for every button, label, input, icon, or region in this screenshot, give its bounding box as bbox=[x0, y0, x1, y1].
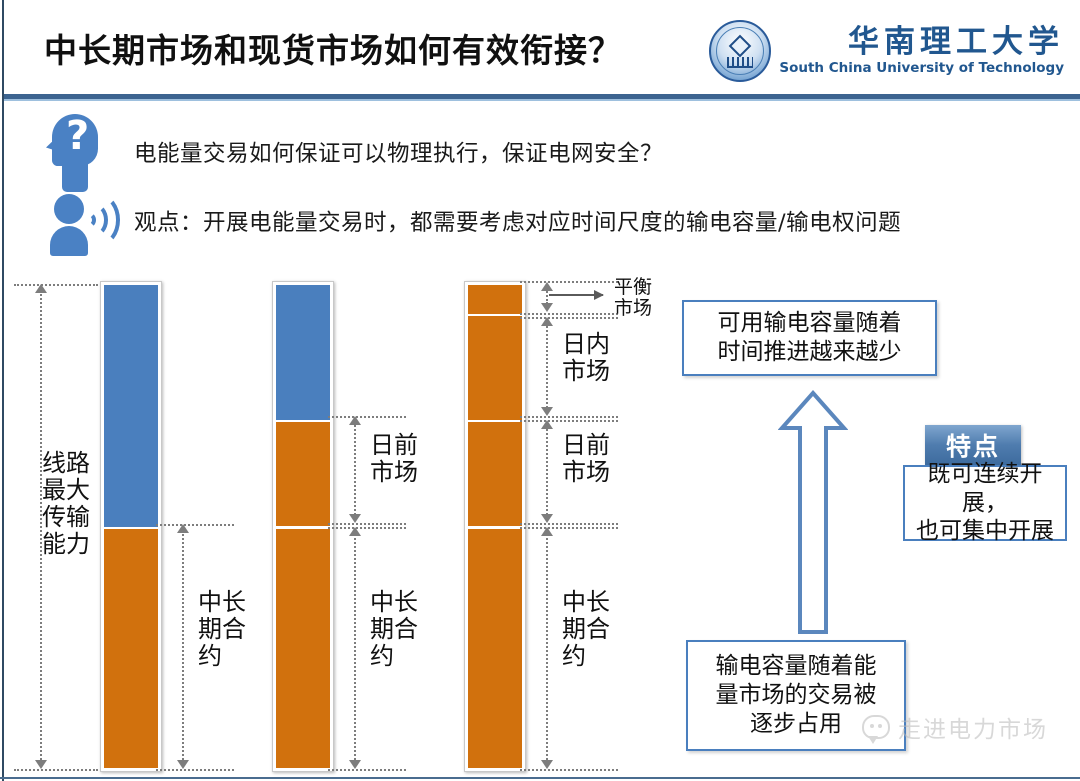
bar-1-ext-top bbox=[156, 524, 234, 526]
bar-3-ext-da-bottom bbox=[520, 523, 618, 525]
bar-1-arrow-top bbox=[177, 524, 189, 533]
bar-3-ext-ml-bottom bbox=[520, 769, 618, 771]
bar-3-ext-intra-bottom bbox=[520, 416, 618, 418]
bar-2-ext-ml-top bbox=[328, 527, 406, 529]
head-question-icon: ? bbox=[46, 112, 102, 192]
bar-1-segment-available bbox=[104, 285, 158, 527]
page-title: 中长期市场和现货市场如何有效衔接？ bbox=[44, 24, 622, 72]
bar-2-arrow-da-bottom bbox=[349, 514, 361, 523]
capacity-arrow-top bbox=[35, 284, 47, 293]
bar-2-dim-line-day-ahead bbox=[354, 422, 356, 518]
bar-3-ext-ml-top bbox=[520, 527, 618, 529]
viewpoint-row: 观点：开展电能量交易时，都需要考虑对应时间尺度的输电容量/输电权问题 bbox=[46, 186, 901, 256]
speaking-person-icon bbox=[46, 186, 118, 256]
bar-2-ext-da-bottom bbox=[328, 523, 406, 525]
logo-name-en: South China University of Technology bbox=[779, 60, 1064, 76]
bar-3-segment-balance bbox=[468, 285, 522, 314]
capacity-axis-label: 线路 最大 传输 能力 bbox=[34, 450, 98, 558]
bar-3 bbox=[464, 281, 526, 772]
university-logo: 华南理工大学 South China University of Technol… bbox=[709, 14, 1064, 88]
bar-3-arrow-bal-bottom bbox=[541, 303, 553, 312]
bar-1 bbox=[100, 281, 162, 772]
capacity-axis-line-3: 传输 bbox=[34, 504, 98, 531]
bar-2-segment-available bbox=[276, 285, 330, 420]
bar-1-label-mid-long: 中长期合约 bbox=[198, 589, 246, 670]
bar-3-arrow-intra-top bbox=[541, 317, 553, 326]
bar-3-ext-bal-top bbox=[520, 281, 618, 283]
bar-3-arrow-da-bottom bbox=[541, 514, 553, 523]
bar-2-ext-da-top bbox=[328, 416, 406, 418]
wechat-icon bbox=[862, 715, 890, 739]
bar-2-segment-day-ahead bbox=[276, 420, 330, 526]
bar-3-ext-bal-bottom bbox=[520, 313, 618, 315]
bar-3-dim-line-mid-long bbox=[546, 533, 548, 764]
capacity-axis-line-1: 线路 bbox=[34, 450, 98, 477]
bar-3-arrow-intra-bottom bbox=[541, 407, 553, 416]
bar-1-segment-mid-long bbox=[104, 527, 158, 769]
bar-2-arrow-ml-bottom bbox=[349, 760, 361, 769]
bar-2-arrow-da-top bbox=[349, 416, 361, 425]
callout-top[interactable]: 可用输电容量随着 时间推进越来越少 bbox=[682, 300, 937, 376]
bottom-edge-rule bbox=[0, 777, 1080, 779]
bar-3-arrow-da-top bbox=[541, 420, 553, 429]
bar-3-arrow-ml-bottom bbox=[541, 760, 553, 769]
bar-2-ext-ml-bottom bbox=[328, 769, 406, 771]
bar-3-segment-intraday bbox=[468, 314, 522, 420]
bar-3-dim-line-intraday bbox=[546, 323, 548, 411]
bar-2 bbox=[272, 281, 334, 772]
capacity-arrow-bottom bbox=[35, 760, 47, 769]
bar-3-label-balance: 平衡市场 bbox=[614, 277, 652, 319]
bar-2-label-mid-long: 中长期合约 bbox=[370, 589, 418, 670]
watermark: 走进电力市场 bbox=[862, 710, 1048, 744]
bar-2-segment-mid-long bbox=[276, 527, 330, 769]
bar-3-arrow-ml-top bbox=[541, 527, 553, 536]
bar-1-arrow-bottom bbox=[177, 760, 189, 769]
logo-name-cn: 华南理工大学 bbox=[848, 26, 1064, 59]
callout-feature[interactable]: 既可连续开展， 也可集中开展 bbox=[903, 465, 1067, 541]
capacity-ext-bottom bbox=[14, 769, 98, 771]
bar-3-segment-day-ahead bbox=[468, 420, 522, 526]
capacity-ext-top bbox=[14, 284, 98, 286]
bar-3-label-intraday: 日内市场 bbox=[562, 331, 610, 385]
capacity-axis-line-4: 能力 bbox=[34, 531, 98, 558]
bar-1-ext-bottom bbox=[156, 769, 234, 771]
bar-3-label-mid-long: 中长期合约 bbox=[562, 589, 610, 670]
bar-3-dim-line-day-ahead bbox=[546, 426, 548, 518]
question-text: 电能量交易如何保证可以物理执行，保证电网安全？ bbox=[134, 136, 663, 168]
bar-2-label-day-ahead: 日前市场 bbox=[370, 432, 418, 486]
bar-3-arrow-bal-top bbox=[541, 282, 553, 291]
bar-2-dim-line-mid-long bbox=[354, 533, 356, 764]
slide-canvas: 中长期市场和现货市场如何有效衔接？ 华南理工大学 South China Uni… bbox=[0, 0, 1080, 781]
callout-bottom-text: 输电容量随着能 量市场的交易被 逐步占用 bbox=[716, 652, 877, 738]
bar-2-arrow-ml-top bbox=[349, 527, 361, 536]
capacity-axis-line-2: 最大 bbox=[34, 477, 98, 504]
bar-3-ext-intra-top bbox=[520, 317, 618, 319]
header-divider bbox=[4, 94, 1080, 99]
callout-top-text: 可用输电容量随着 时间推进越来越少 bbox=[718, 309, 902, 367]
question-row: ? 电能量交易如何保证可以物理执行，保证电网安全？ bbox=[46, 112, 663, 192]
university-seal-icon bbox=[709, 20, 771, 82]
bar-1-dim-line bbox=[182, 530, 184, 764]
left-edge-rule bbox=[2, 0, 4, 781]
watermark-text: 走进电力市场 bbox=[898, 710, 1048, 744]
viewpoint-text: 观点：开展电能量交易时，都需要考虑对应时间尺度的输电容量/输电权问题 bbox=[134, 205, 901, 237]
bar-3-label-day-ahead: 日前市场 bbox=[562, 432, 610, 486]
bar-3-segment-mid-long bbox=[468, 527, 522, 769]
callout-feature-text: 既可连续开展， 也可集中开展 bbox=[905, 460, 1065, 546]
bar-3-ext-da-top bbox=[520, 420, 618, 422]
bar-3-leader-balance bbox=[549, 294, 603, 296]
